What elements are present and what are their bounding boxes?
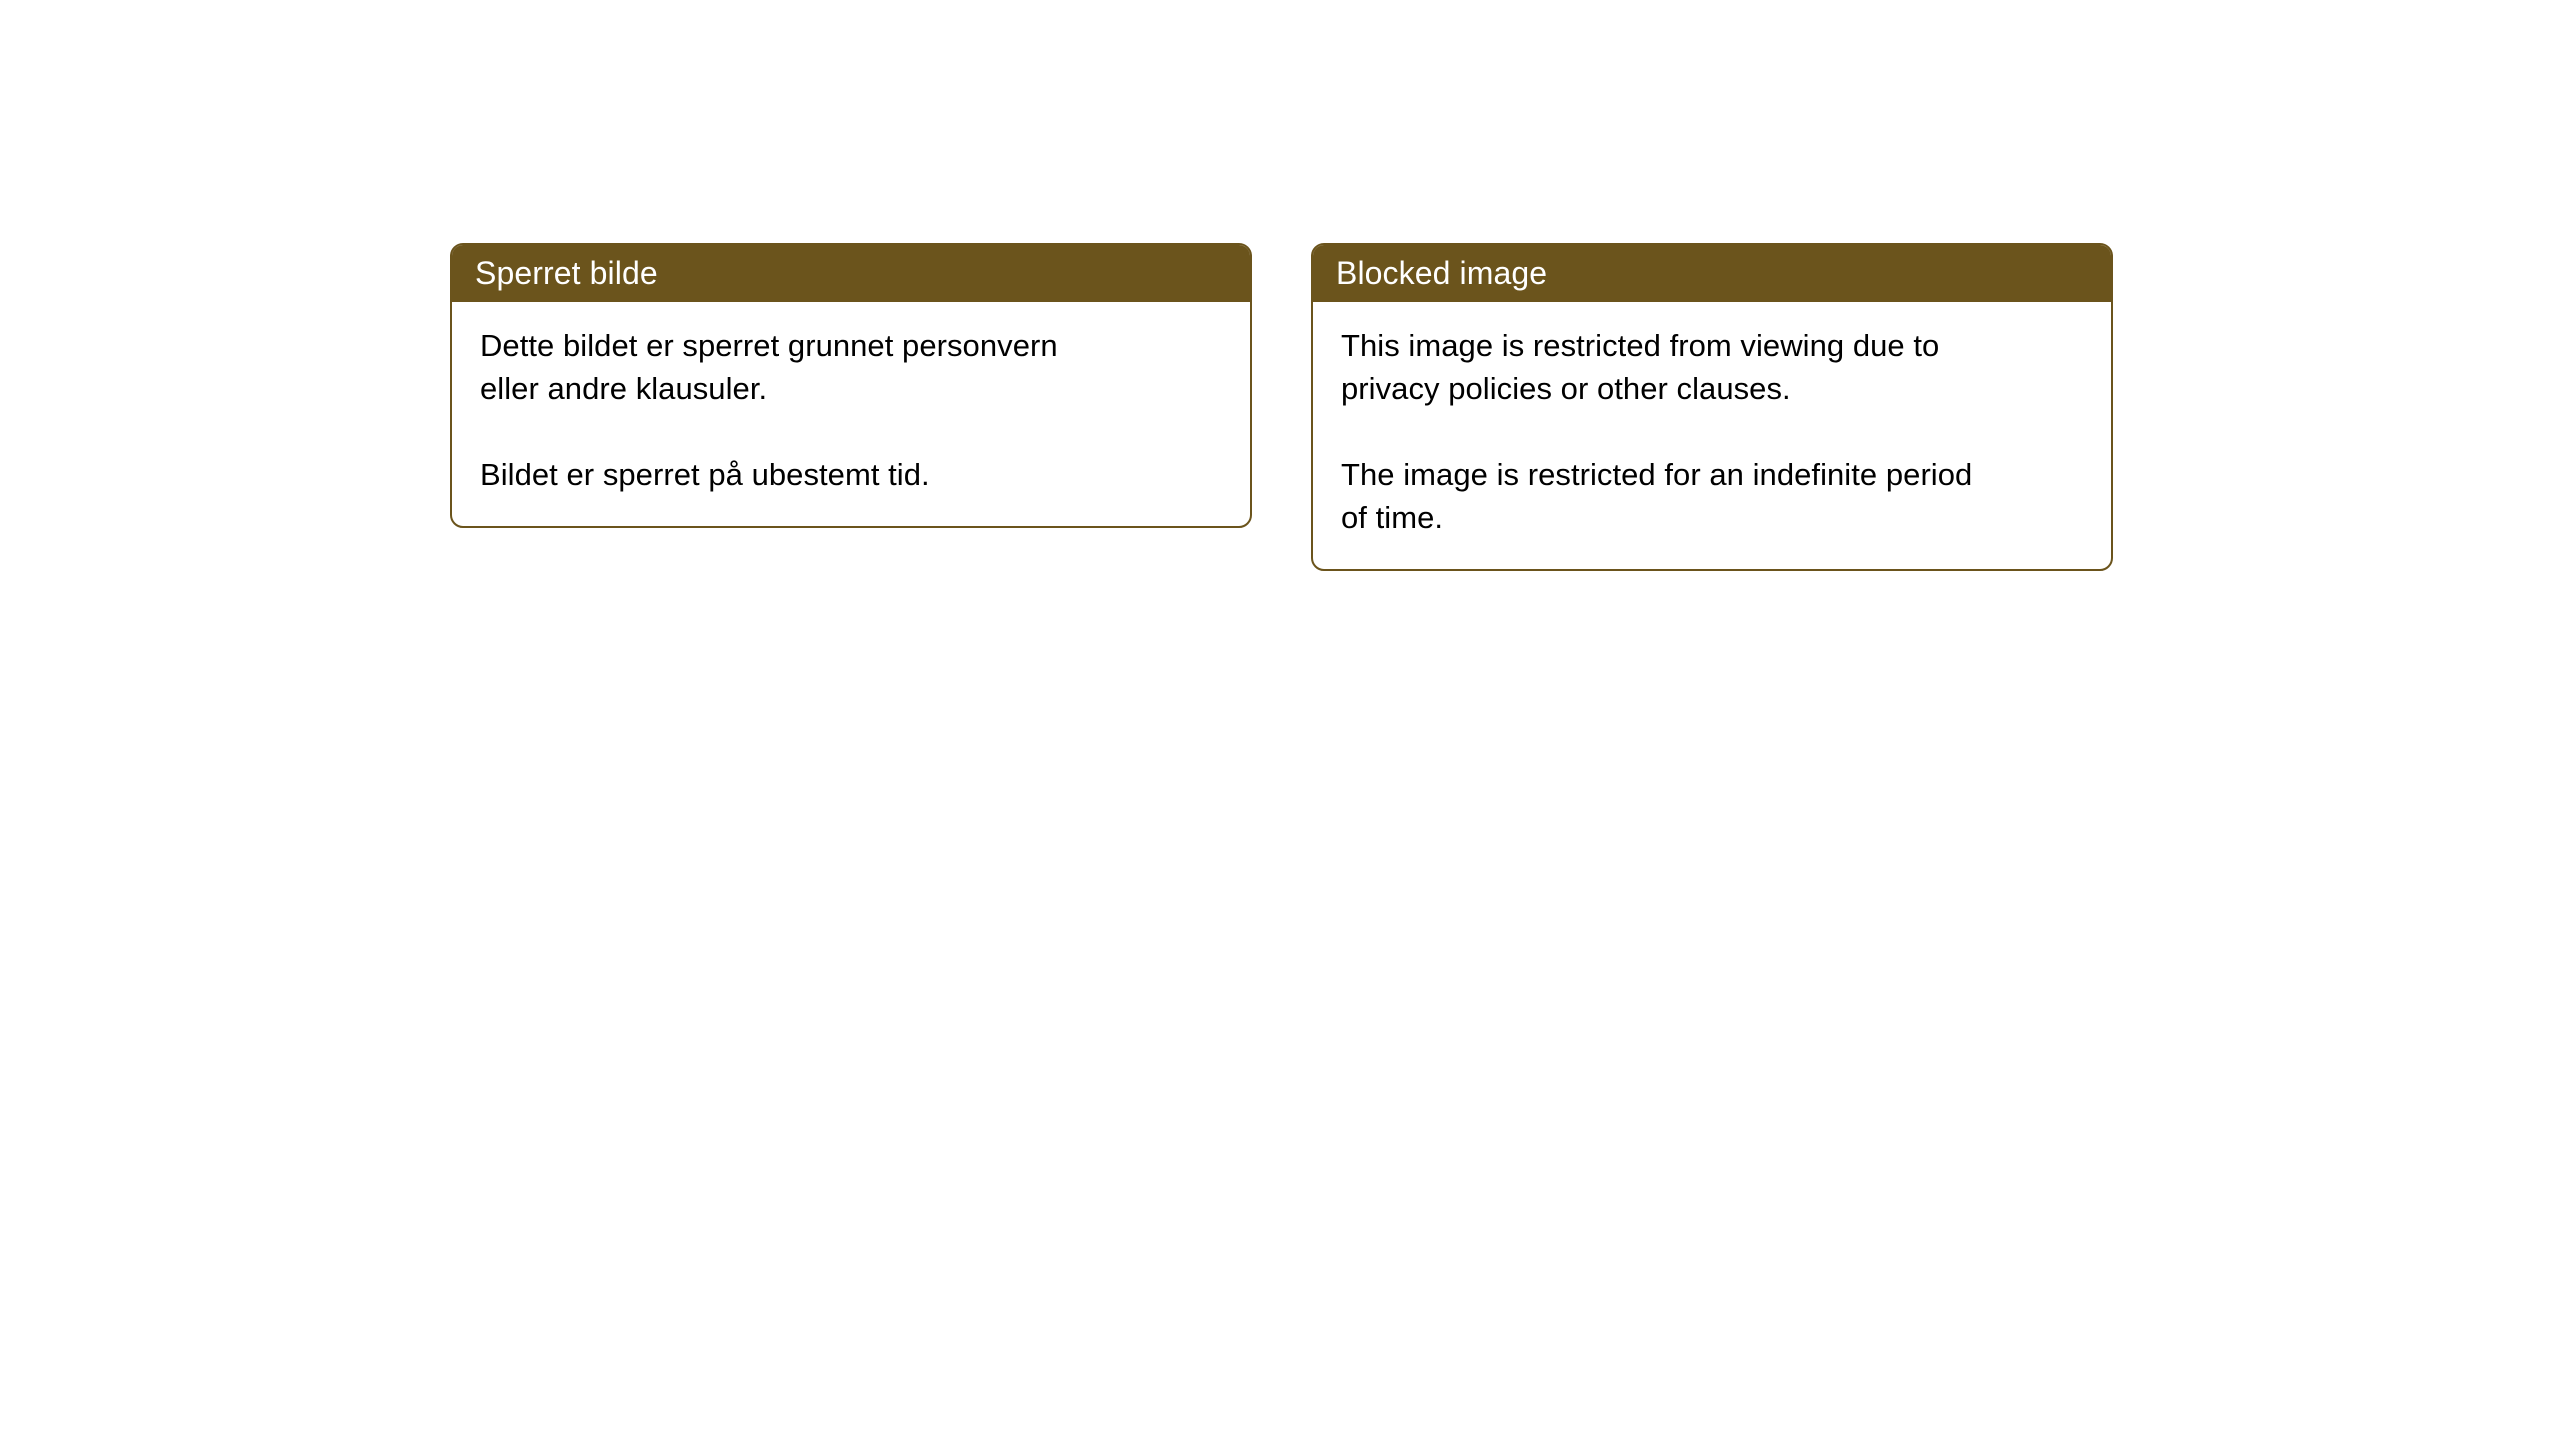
card-body-norwegian: Dette bildet er sperret grunnet personve…	[452, 302, 1250, 526]
page-canvas: Sperret bilde Dette bildet er sperret gr…	[0, 0, 2560, 1440]
card-body-english: This image is restricted from viewing du…	[1313, 302, 2111, 569]
card-header-english: Blocked image	[1311, 243, 2113, 302]
card-header-norwegian: Sperret bilde	[450, 243, 1252, 302]
card-title-norwegian: Sperret bilde	[475, 255, 658, 291]
card-paragraph-primary-english: This image is restricted from viewing du…	[1341, 324, 1981, 410]
blocked-image-card-english: Blocked image This image is restricted f…	[1311, 243, 2113, 571]
card-title-english: Blocked image	[1336, 255, 1547, 291]
card-paragraph-secondary-english: The image is restricted for an indefinit…	[1341, 453, 1981, 539]
notice-card-group: Sperret bilde Dette bildet er sperret gr…	[450, 243, 2113, 571]
card-paragraph-primary-norwegian: Dette bildet er sperret grunnet personve…	[480, 324, 1080, 410]
card-paragraph-secondary-norwegian: Bildet er sperret på ubestemt tid.	[480, 453, 1080, 496]
blocked-image-card-norwegian: Sperret bilde Dette bildet er sperret gr…	[450, 243, 1252, 528]
